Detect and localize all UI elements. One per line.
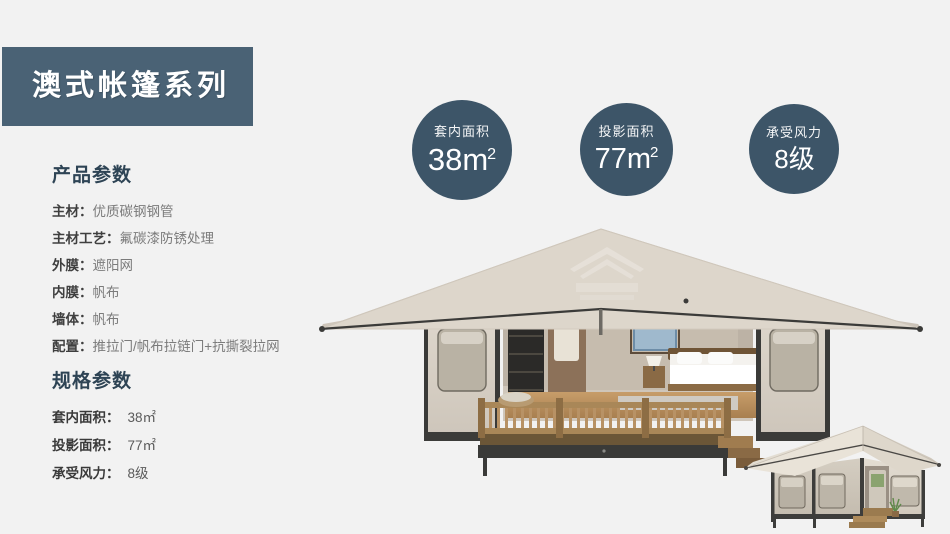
stat-value: 38m2 (428, 144, 496, 175)
list-item: 外膜： 遮阳网 (52, 252, 352, 279)
param-value: 推拉门/帆布拉链门+抗撕裂拉网 (93, 333, 280, 360)
list-item: 主材： 优质碳钢钢管 (52, 198, 352, 225)
list-item: 主材工艺： 氟碳漆防锈处理 (52, 225, 352, 252)
param-label: 主材工艺： (52, 225, 120, 252)
spec-value: 8级 (120, 460, 149, 488)
slide-root: 澳式帐篷系列 产品参数 主材： 优质碳钢钢管 主材工艺： 氟碳漆防锈处理 外膜：… (0, 0, 950, 534)
stat-label: 承受风力 (766, 126, 822, 140)
list-item: 配置： 推拉门/帆布拉链门+抗撕裂拉网 (52, 333, 352, 360)
list-item: 投影面积： 77㎡ (52, 432, 352, 460)
list-item: 内膜： 帆布 (52, 279, 352, 306)
spec-label: 投影面积： (52, 432, 120, 460)
param-label: 配置： (52, 333, 93, 360)
stat-label: 投影面积 (598, 125, 654, 139)
param-value: 帆布 (93, 306, 120, 333)
param-value: 优质碳钢钢管 (93, 198, 174, 225)
param-label: 内膜： (52, 279, 93, 306)
spec-value: 38㎡ (120, 404, 157, 432)
spec-value: 77㎡ (120, 432, 157, 460)
stat-badge-wind-resistance: 承受风力 8级 (749, 104, 839, 194)
product-params-list: 主材： 优质碳钢钢管 主材工艺： 氟碳漆防锈处理 外膜： 遮阳网 内膜： 帆布 … (52, 198, 352, 360)
stat-badge-projected-area: 投影面积 77m2 (580, 103, 673, 196)
product-params-heading: 产品参数 (52, 166, 352, 185)
spec-params-list: 套内面积： 38㎡ 投影面积： 77㎡ 承受风力： 8级 (52, 404, 352, 488)
stat-label: 套内面积 (434, 125, 490, 139)
stat-badge-interior-area: 套内面积 38m2 (412, 100, 512, 200)
spec-label: 套内面积： (52, 404, 120, 432)
page-title: 澳式帐篷系列 (32, 72, 230, 101)
param-value: 遮阳网 (93, 252, 134, 279)
param-label: 主材： (52, 198, 93, 225)
param-label: 外膜： (52, 252, 93, 279)
list-item: 套内面积： 38㎡ (52, 404, 352, 432)
param-label: 墙体： (52, 306, 93, 333)
param-value: 帆布 (93, 279, 120, 306)
list-item: 墙体： 帆布 (52, 306, 352, 333)
product-params-section: 产品参数 主材： 优质碳钢钢管 主材工艺： 氟碳漆防锈处理 外膜： 遮阳网 内膜… (52, 166, 352, 360)
title-banner: 澳式帐篷系列 (2, 47, 253, 126)
spec-params-heading: 规格参数 (52, 372, 352, 391)
spec-params-section: 规格参数 套内面积： 38㎡ 投影面积： 77㎡ 承受风力： 8级 (52, 372, 352, 488)
secondary-tent-image (735, 418, 950, 534)
stat-value: 77m2 (595, 145, 659, 174)
param-value: 氟碳漆防锈处理 (120, 225, 215, 252)
list-item: 承受风力： 8级 (52, 460, 352, 488)
spec-label: 承受风力： (52, 460, 120, 488)
stat-value: 8级 (774, 146, 813, 172)
